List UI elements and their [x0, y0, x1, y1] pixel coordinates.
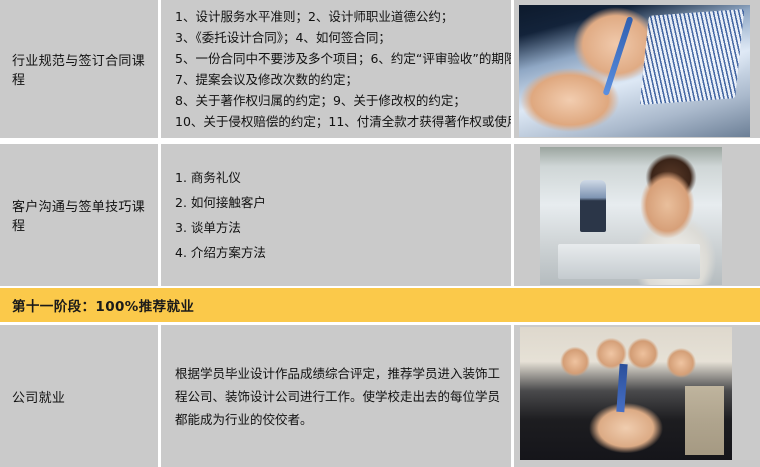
list-item: 4. 介绍方案方法 [175, 240, 501, 265]
row-title-industry-standards: 行业规范与签订合同课程 [0, 0, 158, 138]
content-line: 3、《委托设计合同》；4、如何签合同； [175, 27, 501, 48]
content-paragraph: 根据学员毕业设计作品成绩综合评定，推荐学员进入装饰工程公司、装饰设计公司进行工作… [175, 362, 501, 431]
row-title-company-employment: 公司就业 [0, 325, 158, 467]
list-item: 2. 如何接触客户 [175, 190, 501, 215]
office-phone-call-photo [540, 147, 722, 285]
business-team-hands-photo [520, 327, 732, 460]
content-line: 1、设计服务水平准则；2、设计师职业道德公约； [175, 6, 501, 27]
content-line: 10、关于侵权赔偿的约定；11、付清全款才获得著作权或使用权 [175, 111, 501, 132]
stage-banner-text: 第十一阶段：100%推荐就业 [12, 295, 194, 315]
content-line: 8、关于著作权归属的约定；9、关于修改权的约定； [175, 90, 501, 111]
client-communication-list: 1. 商务礼仪 2. 如何接触客户 3. 谈单方法 4. 介绍方案方法 [175, 165, 501, 265]
row-content-industry-standards: 1、设计服务水平准则；2、设计师职业道德公约； 3、《委托设计合同》；4、如何签… [161, 0, 511, 138]
course-curriculum-table: 行业规范与签订合同课程 1、设计服务水平准则；2、设计师职业道德公约； 3、《委… [0, 0, 760, 467]
row-title-client-communication: 客户沟通与签单技巧课程 [0, 144, 158, 286]
list-item: 1. 商务礼仪 [175, 165, 501, 190]
content-line: 7、提案会议及修改次数的约定； [175, 69, 501, 90]
signing-contract-photo [519, 5, 750, 137]
row-content-client-communication: 1. 商务礼仪 2. 如何接触客户 3. 谈单方法 4. 介绍方案方法 [161, 144, 511, 286]
row-content-company-employment: 根据学员毕业设计作品成绩综合评定，推荐学员进入装饰工程公司、装饰设计公司进行工作… [161, 325, 511, 467]
list-item: 3. 谈单方法 [175, 215, 501, 240]
stage-banner: 第十一阶段：100%推荐就业 [0, 288, 760, 322]
content-line: 5、一份合同中不要涉及多个项目；6、约定“评审验收”的期限； [175, 48, 501, 69]
